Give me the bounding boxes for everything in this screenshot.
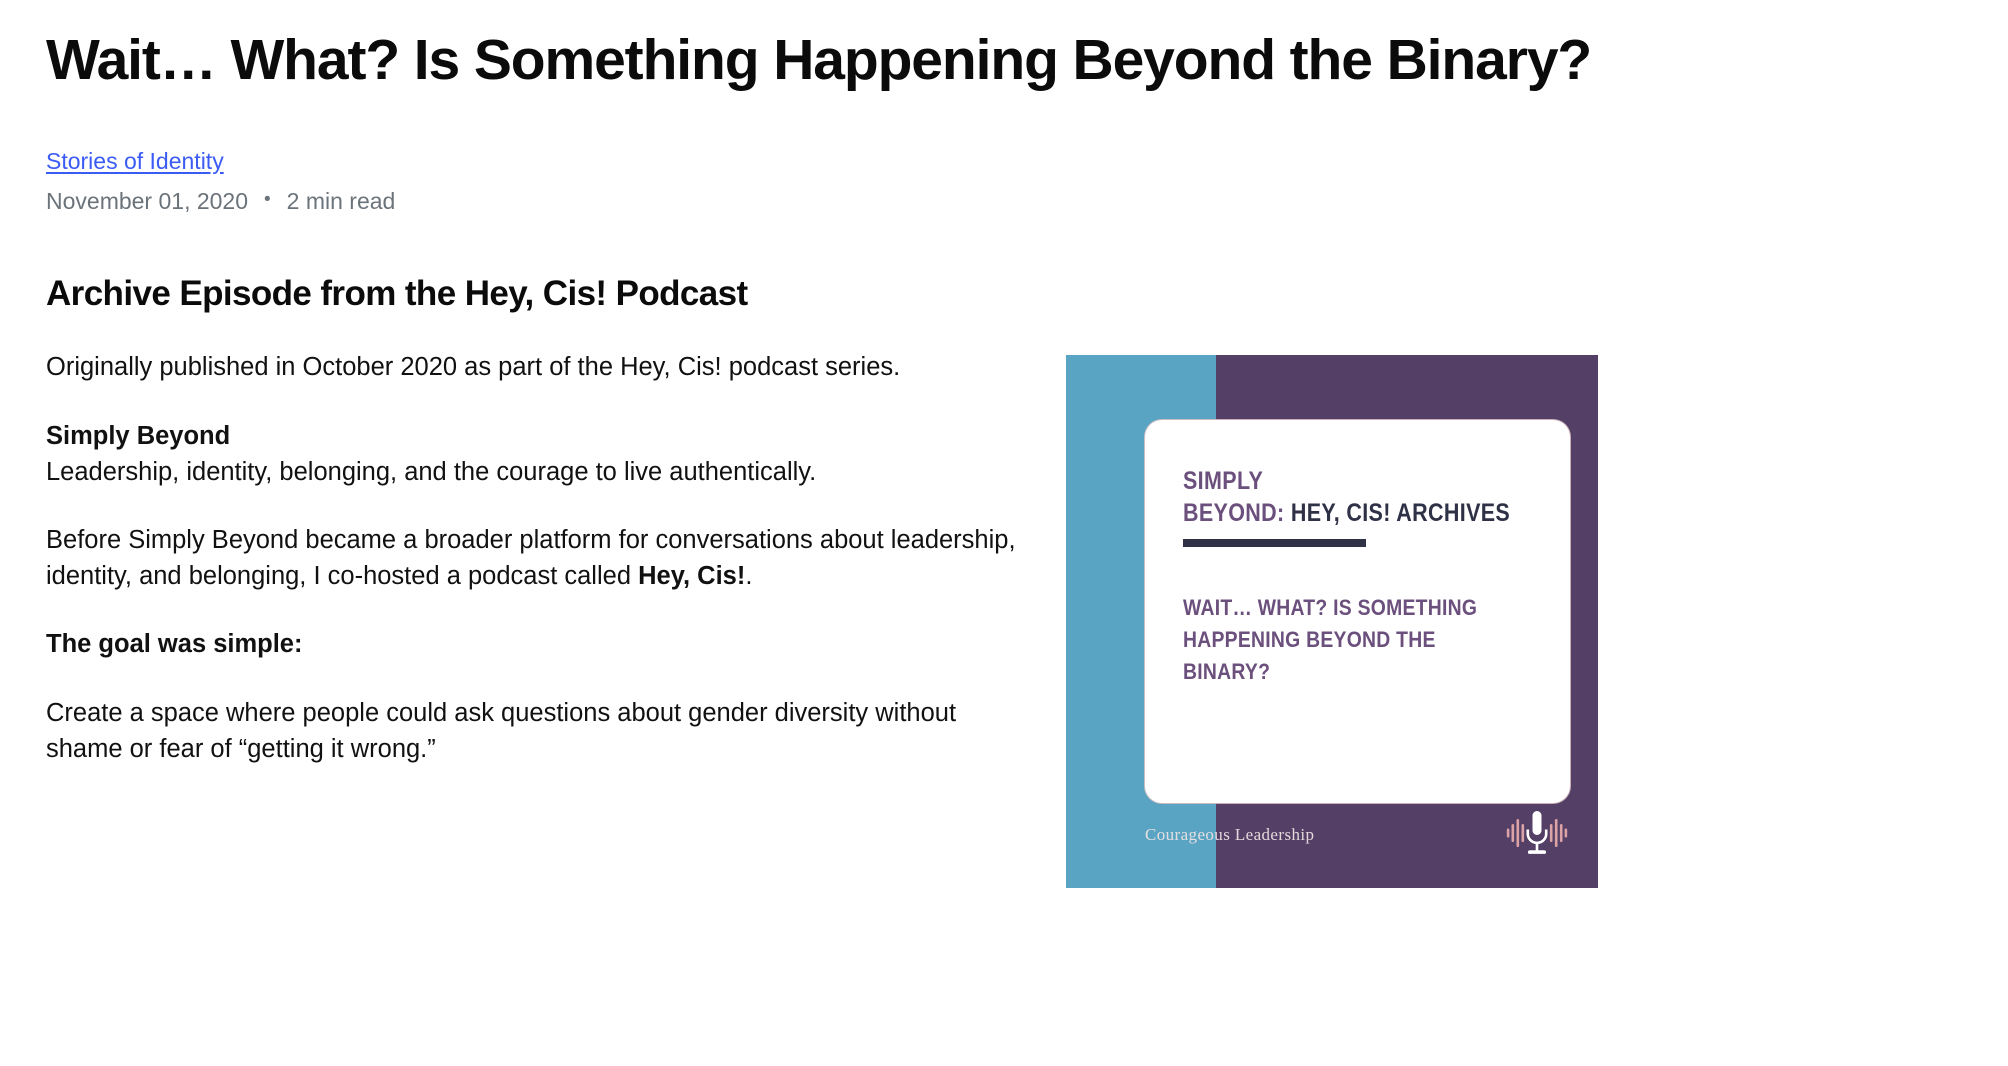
paragraph-heading-goal: The goal was simple: xyxy=(46,626,1030,662)
cover-subtitle-line2: HAPPENING BEYOND THE BINARY? xyxy=(1183,624,1490,687)
meta-line: November 01, 2020 • 2 min read xyxy=(46,188,1962,216)
cover-footer: Courageous Leadership xyxy=(1145,806,1576,864)
cover-subtitle: WAIT… WHAT? IS SOMETHING HAPPENING BEYON… xyxy=(1183,592,1490,687)
paragraph-text-before-a: Before Simply Beyond became a broader pl… xyxy=(46,526,1016,590)
podcast-cover-column: SIMPLY BEYOND: HEY, CIS! ARCHIVES WAIT… … xyxy=(1066,349,1598,888)
cover-title-part1: BEYOND: xyxy=(1183,499,1285,527)
read-time: 2 min read xyxy=(287,188,396,216)
category-link[interactable]: Stories of Identity xyxy=(46,148,224,176)
publish-date: November 01, 2020 xyxy=(46,188,248,216)
article-text-column: Originally published in October 2020 as … xyxy=(46,349,1066,767)
meta-separator-dot: • xyxy=(264,189,271,212)
cover-divider-rule xyxy=(1183,539,1366,547)
paragraph-heading-simply-beyond: Simply Beyond xyxy=(46,418,1030,454)
podcast-cover-art: SIMPLY BEYOND: HEY, CIS! ARCHIVES WAIT… … xyxy=(1066,355,1598,888)
cover-brand-text: Courageous Leadership xyxy=(1145,825,1314,845)
cover-kicker: SIMPLY xyxy=(1183,466,1483,497)
section-heading: Archive Episode from the Hey, Cis! Podca… xyxy=(46,272,1962,316)
paragraph-before-simply-beyond: Before Simply Beyond became a broader pl… xyxy=(46,522,1030,594)
article-body-layout: Originally published in October 2020 as … xyxy=(46,349,1962,888)
cover-title-part2: HEY, CIS! ARCHIVES xyxy=(1285,499,1511,527)
cover-title: BEYOND: HEY, CIS! ARCHIVES xyxy=(1183,498,1483,529)
paragraph-text-before-b: . xyxy=(745,562,752,590)
article-page: Wait… What? Is Something Happening Beyon… xyxy=(0,0,2008,1066)
paragraph-goal-text: Create a space where people could ask qu… xyxy=(46,695,1030,767)
cover-white-card: SIMPLY BEYOND: HEY, CIS! ARCHIVES WAIT… … xyxy=(1145,420,1570,803)
paragraph-goal-heading: The goal was simple: xyxy=(46,626,1030,662)
microphone-icon xyxy=(1504,806,1570,864)
podcast-name-bold: Hey, Cis! xyxy=(638,562,745,590)
cover-subtitle-line1: WAIT… WHAT? IS SOMETHING xyxy=(1183,592,1490,624)
paragraph-intro: Originally published in October 2020 as … xyxy=(46,349,1030,385)
article-meta: Stories of Identity November 01, 2020 • … xyxy=(46,148,1962,216)
page-title: Wait… What? Is Something Happening Beyon… xyxy=(46,26,1606,96)
paragraph-simply-beyond: Simply Beyond Leadership, identity, belo… xyxy=(46,418,1030,490)
paragraph-text-simply-beyond: Leadership, identity, belonging, and the… xyxy=(46,458,816,486)
